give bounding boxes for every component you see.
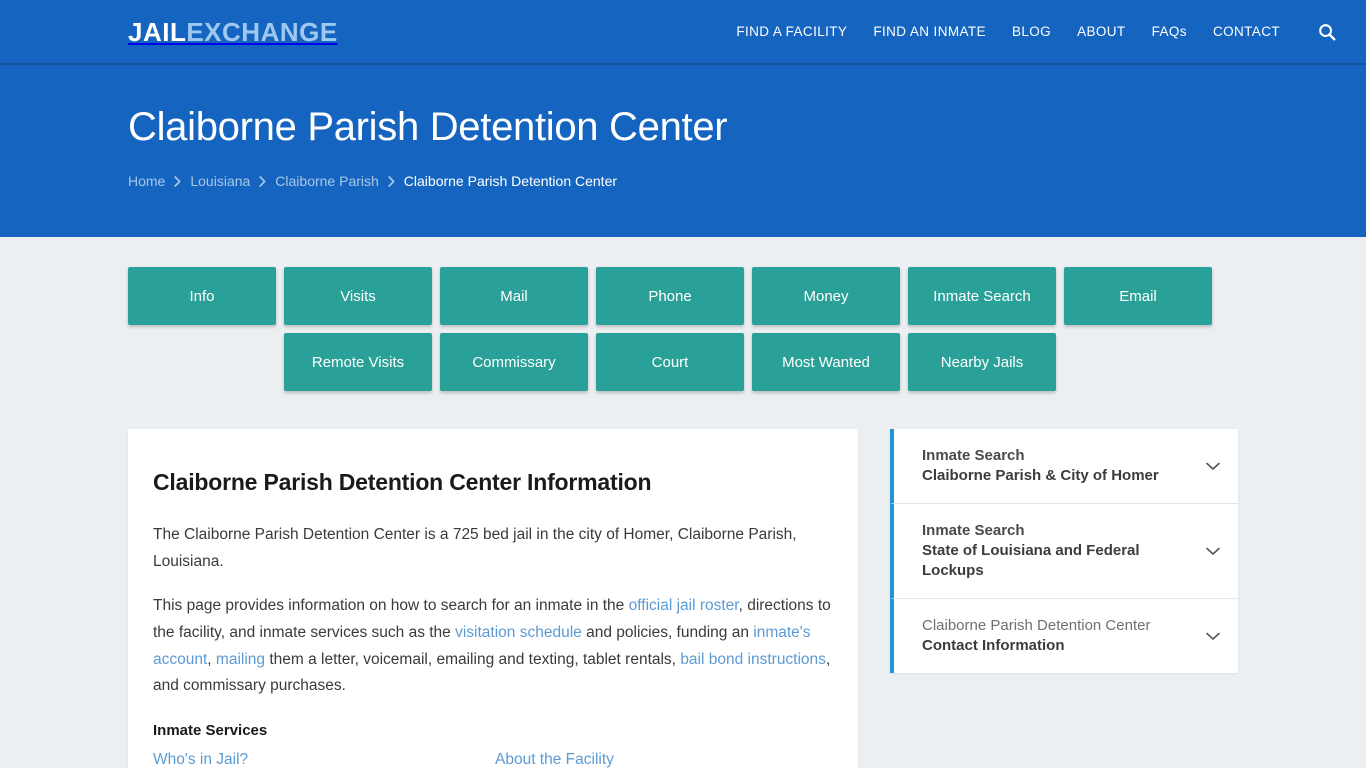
nav-item-contact[interactable]: CONTACT — [1213, 24, 1280, 39]
section-button-remote-visits[interactable]: Remote Visits — [284, 333, 432, 391]
accordion-label-group: Inmate Search Claiborne Parish & City of… — [922, 446, 1192, 486]
accordion-item-inmate-search-state[interactable]: Inmate Search State of Louisiana and Fed… — [890, 504, 1238, 599]
section-button-email[interactable]: Email — [1064, 267, 1212, 325]
service-link-whos-in-jail[interactable]: Who's in Jail? — [153, 747, 495, 768]
chevron-down-icon[interactable] — [1202, 625, 1224, 647]
facility-section-nav: Info Visits Mail Phone Money Inmate Sear… — [0, 237, 1366, 391]
chevron-down-icon[interactable] — [1202, 455, 1224, 477]
page-content: Claiborne Parish Detention Center Inform… — [0, 399, 1366, 768]
accordion-label-group: Inmate Search State of Louisiana and Fed… — [922, 521, 1192, 581]
breadcrumb-item-louisiana[interactable]: Louisiana — [190, 173, 250, 189]
breadcrumb-item-claiborne-parish[interactable]: Claiborne Parish — [275, 173, 379, 189]
nav-item-find-an-inmate[interactable]: FIND AN INMATE — [873, 24, 986, 39]
overview-text-5: them a letter, voicemail, emailing and t… — [265, 651, 680, 668]
section-button-commissary[interactable]: Commissary — [440, 333, 588, 391]
inmate-services-column-right: About the Facility On Site Inmate Visita… — [495, 747, 837, 768]
section-button-inmate-search[interactable]: Inmate Search — [908, 267, 1056, 325]
chevron-right-icon — [388, 176, 395, 187]
inmate-services-heading: Inmate Services — [153, 722, 858, 739]
nav-item-blog[interactable]: BLOG — [1012, 24, 1051, 39]
nav-item-about[interactable]: ABOUT — [1077, 24, 1126, 39]
page-title: Claiborne Parish Detention Center — [128, 105, 1366, 149]
overview-text-1: This page provides information on how to… — [153, 597, 629, 614]
overview-text-3: and policies, funding an — [582, 624, 753, 641]
section-button-money[interactable]: Money — [752, 267, 900, 325]
chevron-down-icon[interactable] — [1202, 540, 1224, 562]
main-navigation: FIND A FACILITY FIND AN INMATE BLOG ABOU… — [736, 23, 1336, 41]
accordion-label-group: Claiborne Parish Detention Center Contac… — [922, 616, 1192, 656]
section-button-mail[interactable]: Mail — [440, 267, 588, 325]
nav-item-find-a-facility[interactable]: FIND A FACILITY — [736, 24, 847, 39]
facility-overview-paragraph: This page provides information on how to… — [153, 593, 837, 700]
search-icon[interactable] — [1318, 23, 1336, 41]
service-link-about-the-facility[interactable]: About the Facility — [495, 747, 837, 768]
hero-banner: Claiborne Parish Detention Center Home L… — [0, 65, 1366, 237]
facility-nav-row-2: Remote Visits Commissary Court Most Want… — [128, 333, 1366, 391]
site-header: JAILEXCHANGE FIND A FACILITY FIND AN INM… — [0, 0, 1366, 65]
breadcrumb-item-home[interactable]: Home — [128, 173, 165, 189]
section-button-nearby-jails[interactable]: Nearby Jails — [908, 333, 1056, 391]
inmate-services-list: Who's in Jail? Directions / Map Remote V… — [153, 747, 858, 768]
logo-text-exchange: EXCHANGE — [186, 17, 337, 47]
accordion-item-contact-information[interactable]: Claiborne Parish Detention Center Contac… — [890, 599, 1238, 673]
nav-item-faqs[interactable]: FAQs — [1152, 24, 1187, 39]
accordion-item-inmate-search-local[interactable]: Inmate Search Claiborne Parish & City of… — [890, 429, 1238, 504]
facility-info-heading: Claiborne Parish Detention Center Inform… — [153, 469, 858, 496]
accordion-title-line-1: Inmate Search — [922, 446, 1192, 466]
link-official-jail-roster[interactable]: official jail roster — [629, 597, 739, 614]
breadcrumb-item-current: Claiborne Parish Detention Center — [404, 173, 617, 189]
facility-info-card: Claiborne Parish Detention Center Inform… — [128, 429, 858, 768]
sidebar-accordion: Inmate Search Claiborne Parish & City of… — [890, 429, 1238, 673]
section-button-phone[interactable]: Phone — [596, 267, 744, 325]
overview-text-4: , — [207, 651, 216, 668]
chevron-right-icon — [174, 176, 181, 187]
inmate-services-column-left: Who's in Jail? Directions / Map Remote V… — [153, 747, 495, 768]
section-button-court[interactable]: Court — [596, 333, 744, 391]
link-visitation-schedule[interactable]: visitation schedule — [455, 624, 582, 641]
link-bail-bond-instructions[interactable]: bail bond instructions — [680, 651, 826, 668]
facility-nav-row-1: Info Visits Mail Phone Money Inmate Sear… — [128, 267, 1366, 325]
accordion-title-line-2: Contact Information — [922, 636, 1192, 656]
logo-text-jail: JAIL — [128, 17, 186, 47]
accordion-title-line-1: Claiborne Parish Detention Center — [922, 616, 1192, 636]
link-mailing[interactable]: mailing — [216, 651, 265, 668]
section-button-info[interactable]: Info — [128, 267, 276, 325]
site-logo[interactable]: JAILEXCHANGE — [128, 19, 338, 45]
accordion-title-line-2: Claiborne Parish & City of Homer — [922, 466, 1192, 486]
chevron-right-icon — [259, 176, 266, 187]
accordion-title-line-1: Inmate Search — [922, 521, 1192, 541]
facility-description: The Claiborne Parish Detention Center is… — [153, 522, 837, 575]
breadcrumb: Home Louisiana Claiborne Parish Claiborn… — [128, 173, 1366, 189]
section-button-visits[interactable]: Visits — [284, 267, 432, 325]
section-button-most-wanted[interactable]: Most Wanted — [752, 333, 900, 391]
accordion-title-line-2: State of Louisiana and Federal Lockups — [922, 541, 1192, 581]
